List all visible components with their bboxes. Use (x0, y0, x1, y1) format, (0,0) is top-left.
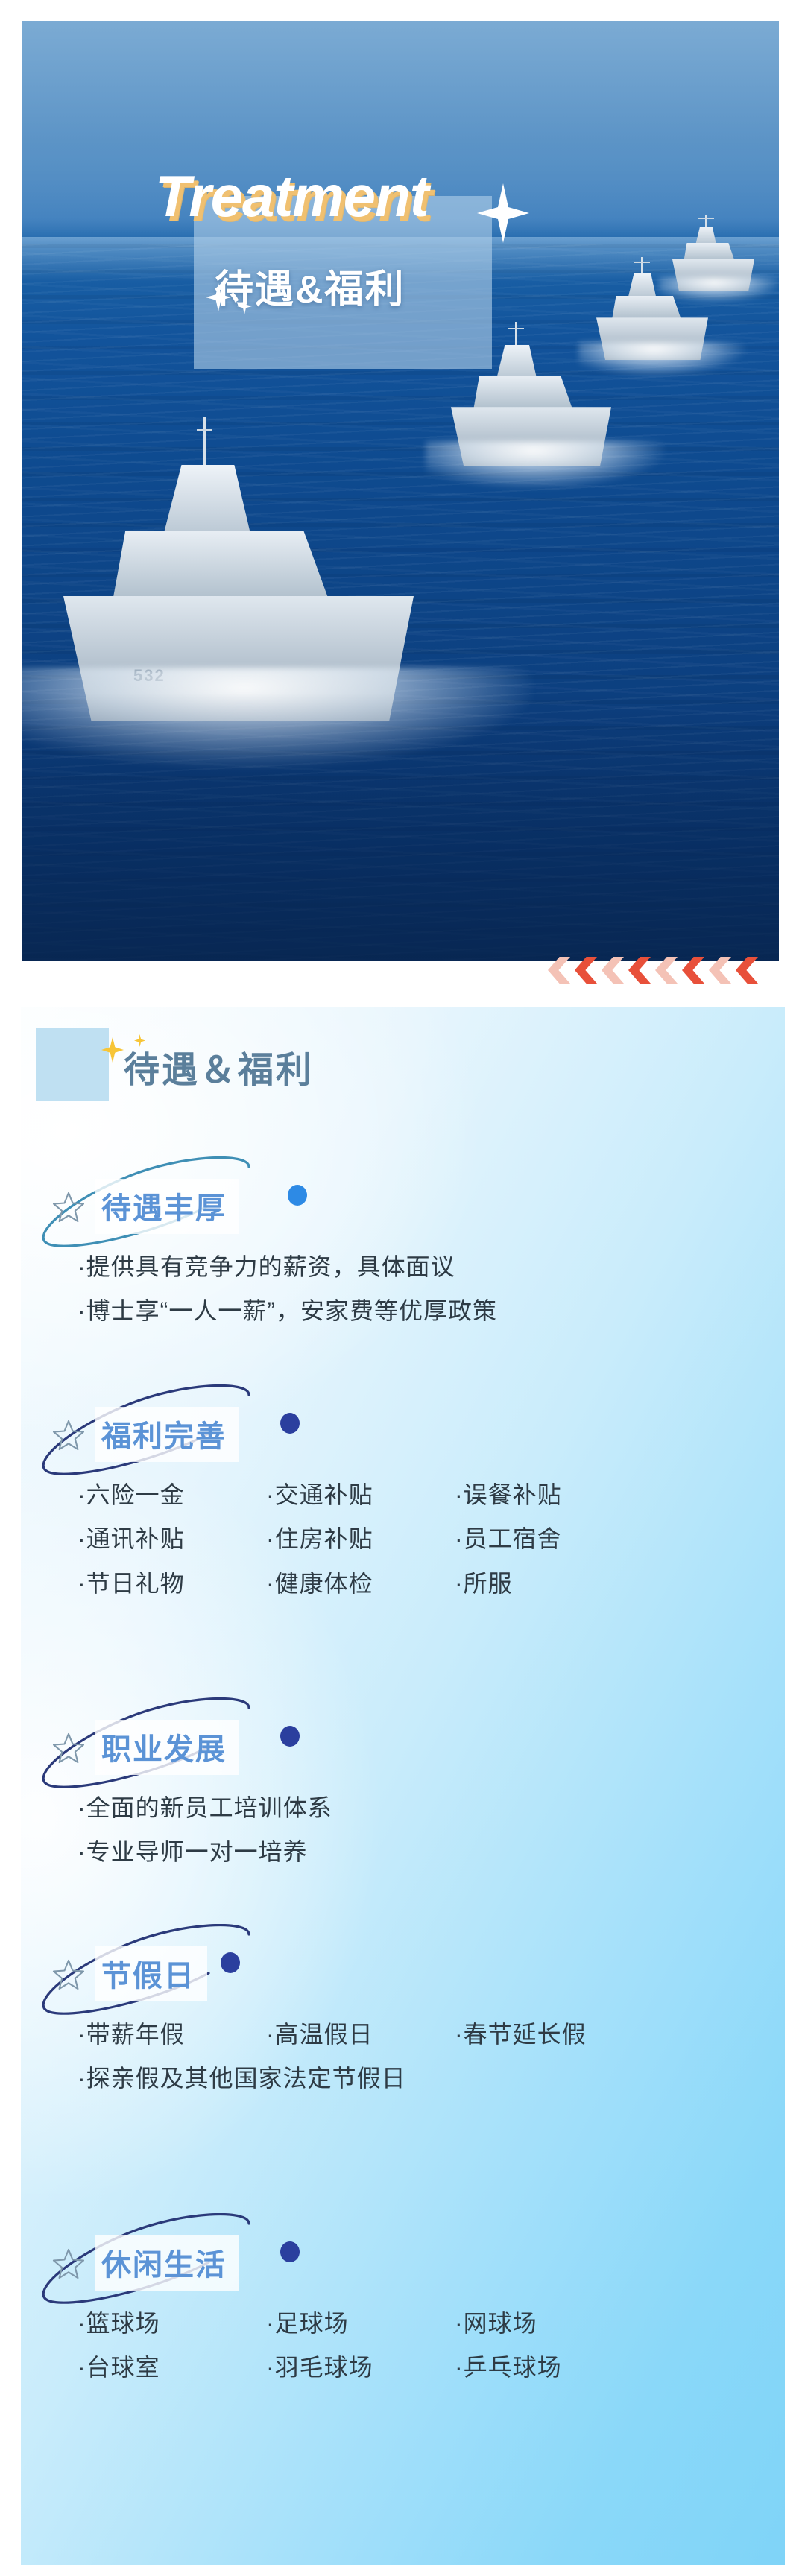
benefit-block-header: 福利完善 (21, 1401, 785, 1465)
benefit-item: ·通讯补贴 (78, 1522, 266, 1556)
benefit-item-row: ·全面的新员工培训体系 (78, 1791, 748, 1825)
benefit-block-title: 职业发展 (95, 1720, 239, 1775)
benefit-item: ·博士享“一人一薪”，安家费等优厚政策 (78, 1294, 497, 1328)
benefit-item-list: ·带薪年假·高温假日·春节延长假·探亲假及其他国家法定节假日 (78, 2018, 748, 2107)
benefit-item: ·误餐补贴 (455, 1478, 643, 1512)
chevron-left-icon (628, 957, 651, 984)
benefit-block: 节假日·带薪年假·高温假日·春节延长假·探亲假及其他国家法定节假日 (21, 1940, 785, 2004)
benefit-item: ·篮球场 (78, 2307, 266, 2341)
benefit-item: ·住房补贴 (266, 1522, 455, 1556)
section-heading-swatch (36, 1028, 109, 1101)
benefit-item: ·足球场 (266, 2307, 455, 2341)
benefit-block-title: 福利完善 (95, 1407, 239, 1462)
benefit-item: ·台球室 (78, 2351, 266, 2384)
benefit-item-list: ·全面的新员工培训体系·专业导师一对一培养 (78, 1791, 748, 1880)
benefit-item-row: ·博士享“一人一薪”，安家费等优厚政策 (78, 1294, 748, 1328)
chevron-left-icon (709, 957, 731, 984)
section-heading: 待遇＆福利 (124, 1040, 314, 1092)
benefit-item: ·所服 (455, 1567, 643, 1601)
chevron-divider (548, 957, 771, 984)
benefit-item-row: ·篮球场·足球场·网球场 (78, 2307, 748, 2341)
chevron-left-icon (736, 957, 758, 984)
benefit-item-row: ·通讯补贴·住房补贴·员工宿舍 (78, 1522, 748, 1556)
benefit-item: ·探亲假及其他国家法定节假日 (78, 2062, 406, 2095)
benefit-item: ·带薪年假 (78, 2018, 266, 2051)
accent-dot (221, 1952, 240, 1973)
benefit-block-header: 节假日 (21, 1940, 785, 2004)
benefit-item: ·六险一金 (78, 1478, 266, 1512)
accent-dot (288, 1185, 307, 1206)
benefits-card: 待遇＆福利 待遇丰厚·提供具有竞争力的薪资，具体面议·博士享“一人一薪”，安家费… (21, 1007, 785, 2565)
benefit-item: ·网球场 (455, 2307, 643, 2341)
benefit-item-row: ·专业导师一对一培养 (78, 1835, 748, 1869)
benefit-block: 福利完善·六险一金·交通补贴·误餐补贴·通讯补贴·住房补贴·员工宿舍·节日礼物·… (21, 1401, 785, 1465)
benefit-item: ·乒乓球场 (455, 2351, 643, 2384)
benefit-item: ·提供具有竞争力的薪资，具体面议 (78, 1250, 455, 1284)
benefit-block: 职业发展·全面的新员工培训体系·专业导师一对一培养 (21, 1714, 785, 1778)
accent-dot (280, 2241, 300, 2262)
benefit-item-list: ·篮球场·足球场·网球场·台球室·羽毛球场·乒乓球场 (78, 2307, 748, 2396)
star-outline-icon (52, 1191, 85, 1224)
benefit-item-row: ·提供具有竞争力的薪资，具体面议 (78, 1250, 748, 1284)
benefit-block-title: 休闲生活 (95, 2235, 239, 2291)
chevron-left-icon (655, 957, 678, 984)
benefit-item-row: ·探亲假及其他国家法定节假日 (78, 2062, 748, 2095)
hero-banner: 532 Treatment 待遇&福利 (22, 21, 779, 961)
benefit-item: ·全面的新员工培训体系 (78, 1791, 332, 1825)
benefit-item-row: ·台球室·羽毛球场·乒乓球场 (78, 2351, 748, 2384)
accent-dot (280, 1726, 300, 1747)
star-outline-icon (52, 1419, 85, 1452)
sea-shadow (22, 693, 779, 961)
benefit-item-row: ·带薪年假·高温假日·春节延长假 (78, 2018, 748, 2051)
benefit-item-row: ·节日礼物·健康体检·所服 (78, 1567, 748, 1601)
benefit-block-title: 待遇丰厚 (95, 1179, 239, 1234)
chevron-left-icon (548, 957, 570, 984)
benefit-block-title: 节假日 (95, 1946, 207, 2001)
benefit-item: ·交通补贴 (266, 1478, 455, 1512)
benefit-item: ·专业导师一对一培养 (78, 1835, 308, 1869)
benefit-item: ·节日礼物 (78, 1567, 266, 1601)
benefit-item: ·春节延长假 (455, 2018, 643, 2051)
star-outline-icon (52, 2247, 85, 2280)
benefit-block-header: 休闲生活 (21, 2230, 785, 2294)
benefit-block: 待遇丰厚·提供具有竞争力的薪资，具体面议·博士享“一人一薪”，安家费等优厚政策 (21, 1173, 785, 1237)
accent-dot (280, 1413, 300, 1434)
benefit-item: ·员工宿舍 (455, 1522, 643, 1556)
star-outline-icon (52, 1958, 85, 1991)
benefit-item-row: ·六险一金·交通补贴·误餐补贴 (78, 1478, 748, 1512)
warship-silhouette-third (596, 259, 708, 360)
chevron-left-icon (575, 957, 597, 984)
benefit-block: 休闲生活·篮球场·足球场·网球场·台球室·羽毛球场·乒乓球场 (21, 2230, 785, 2294)
star-outline-icon (52, 1732, 85, 1765)
benefit-item: ·羽毛球场 (266, 2351, 455, 2384)
chevron-left-icon (682, 957, 704, 984)
benefit-block-header: 职业发展 (21, 1714, 785, 1778)
warship-silhouette-lead: 532 (63, 423, 414, 721)
benefit-item: ·健康体检 (266, 1567, 455, 1601)
benefit-item: ·高温假日 (266, 2018, 455, 2051)
benefit-block-header: 待遇丰厚 (21, 1173, 785, 1237)
chevron-left-icon (602, 957, 624, 984)
benefit-item-list: ·提供具有竞争力的薪资，具体面议·博士享“一人一薪”，安家费等优厚政策 (78, 1250, 748, 1339)
hero-title-en: Treatment (155, 162, 429, 230)
benefit-item-list: ·六险一金·交通补贴·误餐补贴·通讯补贴·住房补贴·员工宿舍·节日礼物·健康体检… (78, 1478, 748, 1611)
